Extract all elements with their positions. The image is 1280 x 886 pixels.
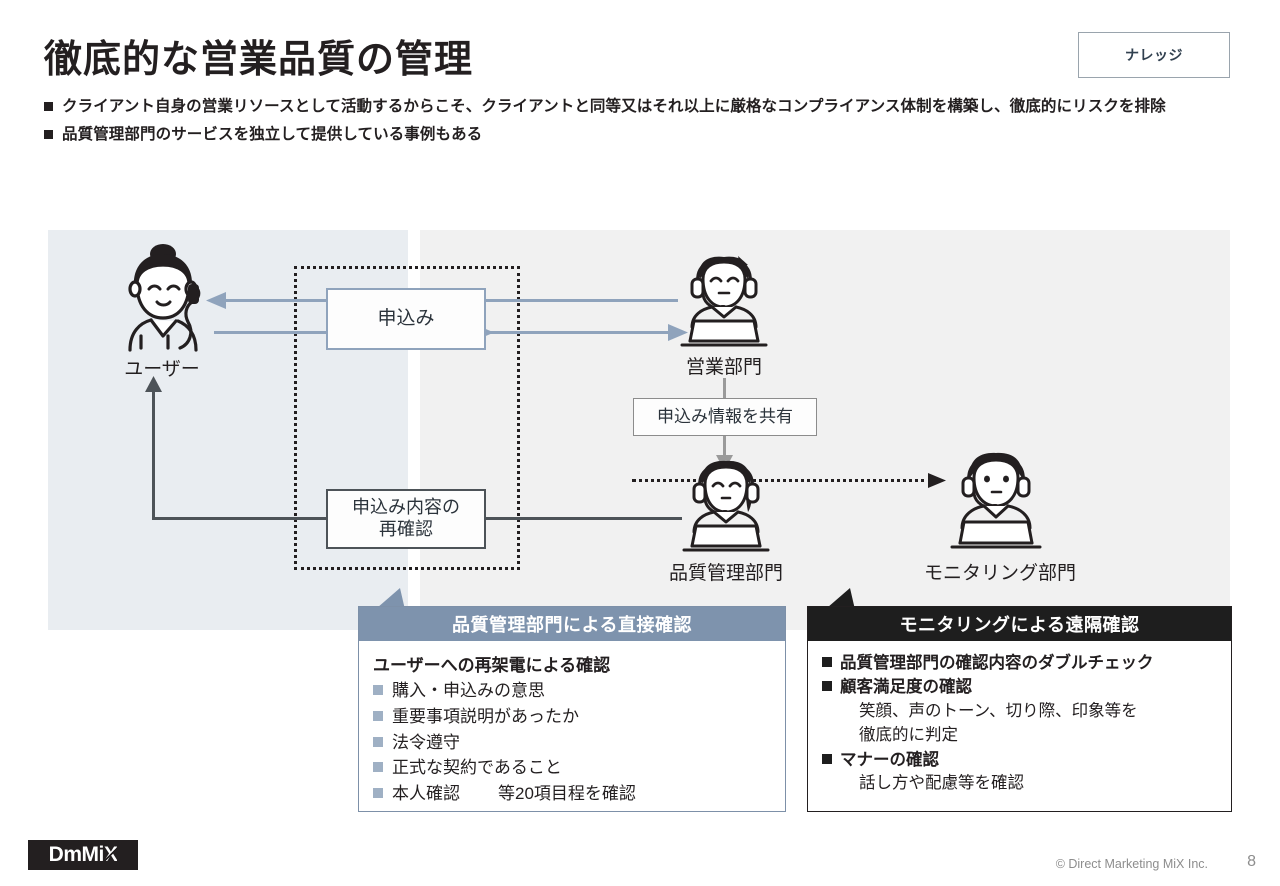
bullet-text: クライアント自身の営業リソースとして活動するからこそ、クライアントと同等又はそれ… xyxy=(62,96,1234,118)
logo-x-mark: X xyxy=(104,843,118,867)
page-number: 8 xyxy=(1247,853,1256,871)
page-title: 徹底的な営業品質の管理 xyxy=(44,28,473,83)
panel-remote-monitoring: モニタリングによる遠隔確認 品質管理部門の確認内容のダブルチェック 顧客満足度の… xyxy=(807,606,1232,812)
logo-text-prefix: DmMi xyxy=(49,843,104,866)
panel-direct-confirmation: 品質管理部門による直接確認 ユーザーへの再架電による確認 購入・申込みの意思 重… xyxy=(358,606,786,812)
panel-right-subtext: 徹底的に判定 xyxy=(822,724,1217,748)
list-item: クライアント自身の営業リソースとして活動するからこそ、クライアントと同等又はそれ… xyxy=(44,96,1234,118)
square-bullet-icon xyxy=(822,681,832,691)
process-box-recheck-line2: 再確認 xyxy=(379,519,433,539)
brand-logo: DmMiX xyxy=(28,840,138,870)
list-item: 購入・申込みの意思 xyxy=(373,678,771,704)
operator-headset-icon xyxy=(678,253,770,349)
panel-left-note: 等20項目程を確認 xyxy=(498,781,636,807)
process-box-share: 申込み情報を共有 xyxy=(633,398,817,436)
person-phone-icon xyxy=(106,244,218,352)
square-bullet-icon xyxy=(44,102,53,111)
list-item: 品質管理部門の確認内容のダブルチェック xyxy=(822,651,1217,675)
actor-label-user: ユーザー xyxy=(106,354,218,381)
connector-sales-to-share xyxy=(723,378,726,400)
process-box-recheck-line1: 申込み内容の xyxy=(352,497,460,517)
connector-recheck-vertical-to-user xyxy=(152,390,155,520)
square-bullet-icon xyxy=(373,762,383,772)
arrowhead-right-monitoring-icon xyxy=(928,473,946,488)
list-item: 正式な契約であること xyxy=(373,755,771,781)
square-bullet-icon xyxy=(822,754,832,764)
panel-left-subtitle: ユーザーへの再架電による確認 xyxy=(373,651,771,676)
panel-left-heading: 品質管理部門による直接確認 xyxy=(359,607,785,641)
actor-label-monitoring: モニタリング部門 xyxy=(920,558,1080,585)
operator-headset-male-icon xyxy=(948,450,1044,554)
connector-apply-right-upper xyxy=(486,299,678,302)
list-item: 顧客満足度の確認 xyxy=(822,675,1217,699)
square-bullet-icon xyxy=(373,685,383,695)
list-item: 法令遵守 xyxy=(373,730,771,756)
process-box-apply-label: 申込み xyxy=(377,307,434,330)
bullet-list: クライアント自身の営業リソースとして活動するからこそ、クライアントと同等又はそれ… xyxy=(44,96,1234,153)
copyright-text: © Direct Marketing MiX Inc. xyxy=(1056,857,1208,871)
status-badge: ナレッジ xyxy=(1078,32,1230,78)
square-bullet-icon xyxy=(373,788,383,798)
slide: 徹底的な営業品質の管理 ナレッジ クライアント自身の営業リソースとして活動するか… xyxy=(0,0,1280,886)
square-bullet-icon xyxy=(822,657,832,667)
square-bullet-icon xyxy=(44,130,53,139)
list-item: 品質管理部門のサービスを独立して提供している事例もある xyxy=(44,124,1234,146)
actor-label-sales: 営業部門 xyxy=(658,352,790,379)
connector-recheck-left xyxy=(152,517,326,520)
list-item: 重要事項説明があったか xyxy=(373,704,771,730)
actor-label-quality: 品質管理部門 xyxy=(660,558,792,585)
square-bullet-icon xyxy=(373,711,383,721)
connector-recheck-to-quality xyxy=(486,517,682,520)
connector-apply-right-lower xyxy=(486,331,674,334)
panel-right-body: 品質管理部門の確認内容のダブルチェック 顧客満足度の確認 笑顔、声のトーン、切り… xyxy=(808,641,1231,808)
operator-headset-female-icon xyxy=(680,458,772,554)
panel-right-subtext: 笑顔、声のトーン、切り際、印象等を xyxy=(822,700,1217,724)
panel-right-subtext: 話し方や配慮等を確認 xyxy=(822,772,1217,796)
list-item: 本人確認 等20項目程を確認 xyxy=(373,781,771,807)
process-box-recheck: 申込み内容の 再確認 xyxy=(326,489,486,549)
process-box-apply: 申込み xyxy=(326,288,486,350)
bullet-text: 品質管理部門のサービスを独立して提供している事例もある xyxy=(62,124,1234,146)
process-box-share-label: 申込み情報を共有 xyxy=(657,407,793,428)
square-bullet-icon xyxy=(373,737,383,747)
list-item: マナーの確認 xyxy=(822,748,1217,772)
diagram-band-right xyxy=(420,230,1230,630)
panel-left-body: ユーザーへの再架電による確認 購入・申込みの意思 重要事項説明があったか 法令遵… xyxy=(359,641,785,819)
panel-right-heading: モニタリングによる遠隔確認 xyxy=(808,607,1231,641)
connector-quality-to-monitoring-dotted xyxy=(632,479,932,482)
